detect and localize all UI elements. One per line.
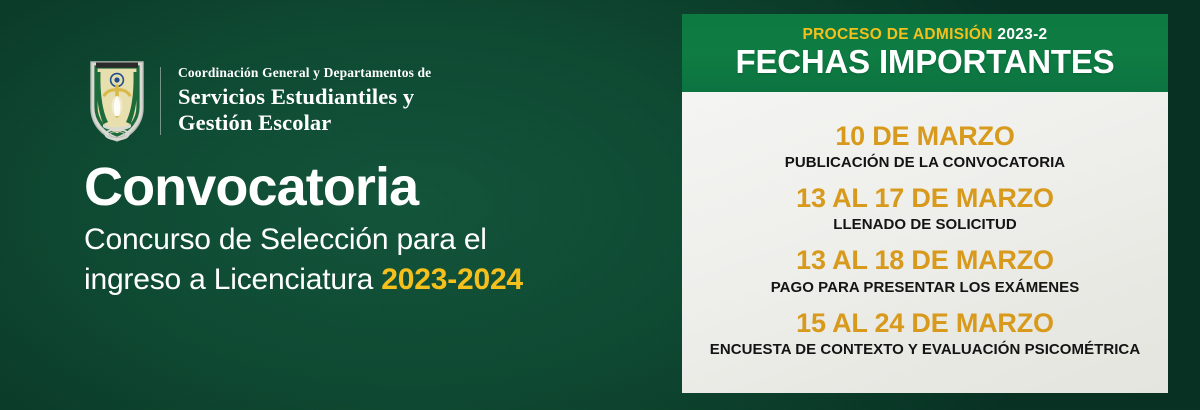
convocatoria-banner: Coordinación General y Departamentos de … — [0, 0, 1200, 410]
admission-process-kicker: PROCESO DE ADMISIÓN 2023-2 — [692, 26, 1158, 43]
brand-line-services: Servicios Estudiantiles y — [178, 84, 431, 110]
subtitle-line-1: Concurso de Selección para el — [84, 223, 487, 256]
dates-card-title: FECHAS IMPORTANTES — [692, 44, 1158, 80]
date-label: 13 AL 17 DE MARZO — [696, 183, 1154, 213]
left-pane: Coordinación General y Departamentos de … — [0, 0, 672, 410]
important-dates-card: PROCESO DE ADMISIÓN 2023-2 FECHAS IMPORT… — [682, 14, 1168, 393]
brand-divider — [160, 67, 161, 135]
date-label: 13 AL 18 DE MARZO — [696, 245, 1154, 275]
page-subtitle: Concurso de Selección para el ingreso a … — [84, 220, 523, 299]
date-description: LLENADO DE SOLICITUD — [696, 216, 1154, 234]
list-item: 15 AL 24 DE MARZO ENCUESTA DE CONTEXTO Y… — [696, 303, 1154, 365]
dates-card-header: PROCESO DE ADMISIÓN 2023-2 FECHAS IMPORT… — [682, 14, 1168, 92]
date-label: 15 AL 24 DE MARZO — [696, 308, 1154, 338]
kicker-label: PROCESO DE ADMISIÓN — [803, 26, 998, 43]
kicker-period: 2023-2 — [997, 26, 1047, 43]
brand-text-block: Coordinación General y Departamentos de … — [178, 66, 431, 136]
subtitle-year-highlight: 2023-2024 — [381, 263, 523, 296]
list-item: 13 AL 17 DE MARZO LLENADO DE SOLICITUD — [696, 178, 1154, 240]
date-label: 10 DE MARZO — [696, 121, 1154, 151]
brand-line-management: Gestión Escolar — [178, 110, 431, 136]
subtitle-line-2: ingreso a Licenciatura — [84, 263, 381, 296]
brand-line-coordination: Coordinación General y Departamentos de — [178, 66, 431, 80]
institution-brand: Coordinación General y Departamentos de … — [86, 57, 431, 145]
page-title: Convocatoria — [84, 160, 523, 214]
date-description: PAGO PARA PRESENTAR LOS EXÁMENES — [696, 279, 1154, 297]
list-item: 13 AL 18 DE MARZO PAGO PARA PRESENTAR LO… — [696, 240, 1154, 302]
dates-list: 10 DE MARZO PUBLICACIÓN DE LA CONVOCATOR… — [682, 92, 1168, 393]
university-crest-icon — [86, 58, 148, 144]
list-item: 10 DE MARZO PUBLICACIÓN DE LA CONVOCATOR… — [696, 116, 1154, 178]
headline-block: Convocatoria Concurso de Selección para … — [84, 160, 523, 299]
date-description: ENCUESTA DE CONTEXTO Y EVALUACIÓN PSICOM… — [696, 341, 1154, 359]
date-description: PUBLICACIÓN DE LA CONVOCATORIA — [696, 154, 1154, 172]
